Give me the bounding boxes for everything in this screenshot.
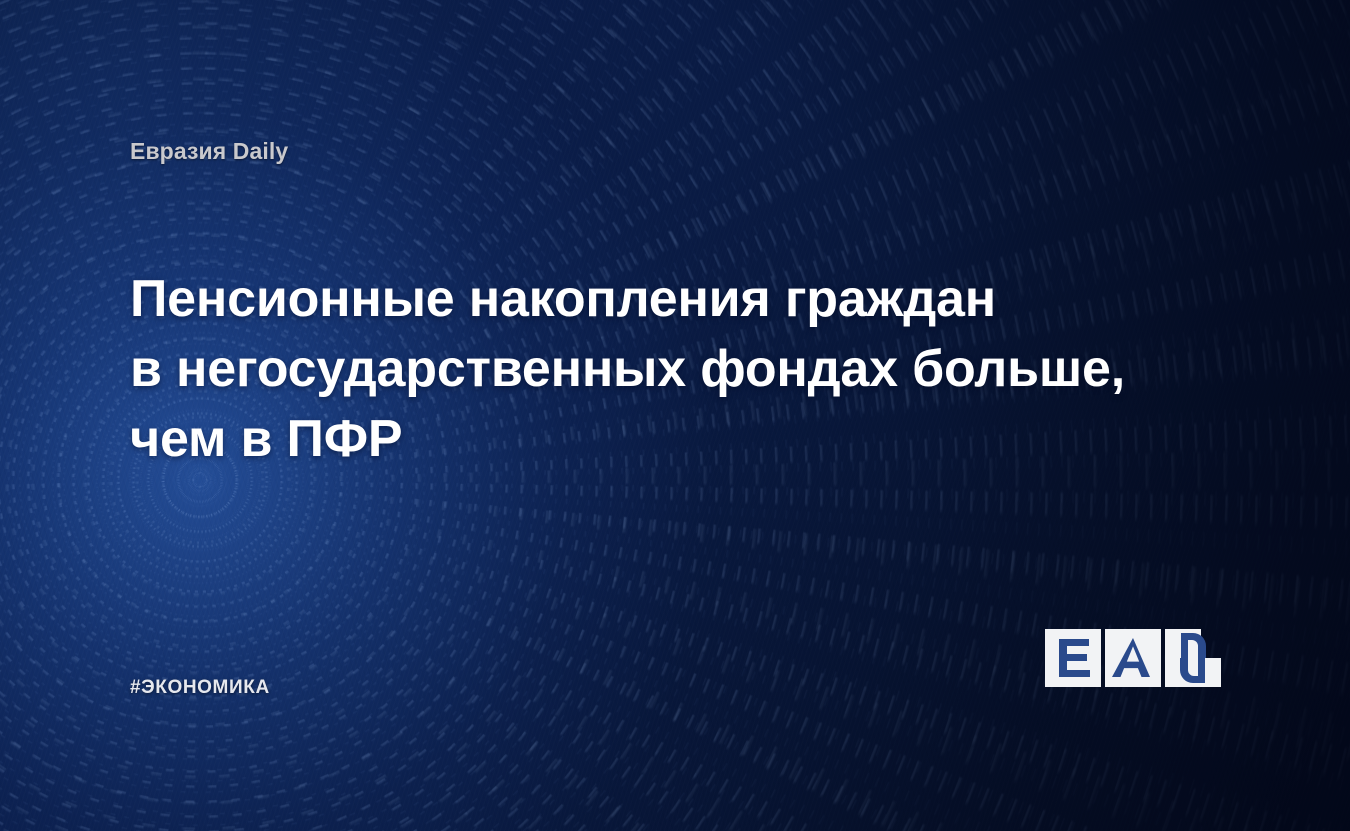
logo-tile-d [1165, 629, 1221, 687]
headline-line-1: Пенсионные накопления граждан [130, 264, 1190, 334]
card-content: Евразия Daily Пенсионные накопления граж… [0, 0, 1350, 831]
brand-wordmark: Евразия Daily [130, 138, 288, 165]
logo-tile-e [1045, 629, 1101, 687]
page-title: Пенсионные накопления граждан в негосуда… [130, 264, 1190, 474]
eadaily-logo [1045, 629, 1221, 687]
headline-line-2: в негосударственных фондах больше, [130, 334, 1190, 404]
headline-line-3: чем в ПФР [130, 404, 1190, 474]
logo-tile-a [1105, 629, 1161, 687]
category-hashtag[interactable]: #ЭКОНОМИКА [130, 677, 270, 699]
news-share-card: Евразия Daily Пенсионные накопления граж… [0, 0, 1350, 831]
